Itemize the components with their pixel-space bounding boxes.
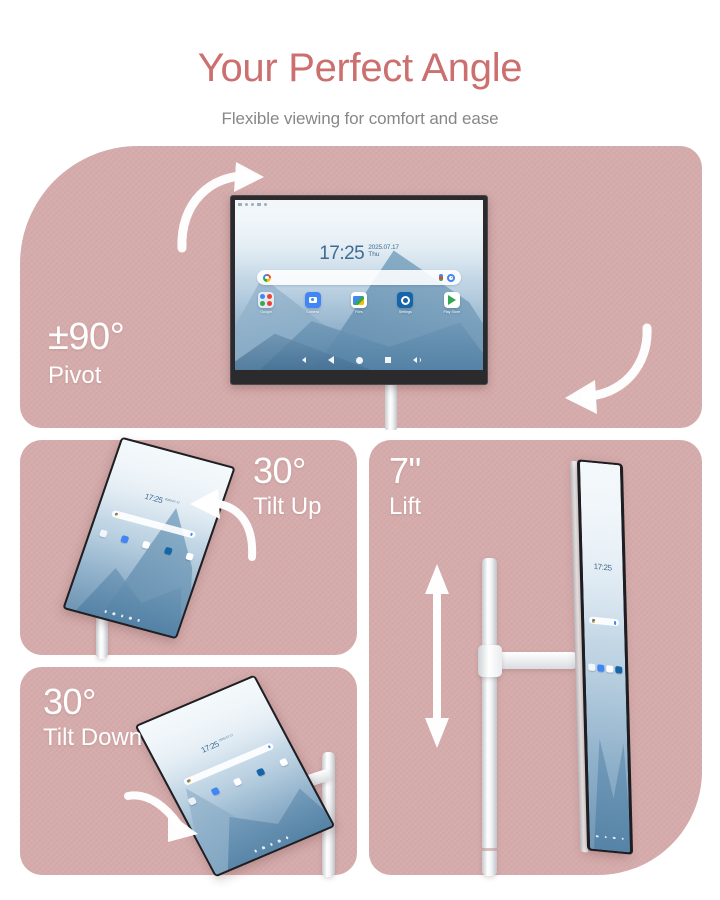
camera-icon	[305, 292, 321, 308]
volume-down-icon[interactable]	[302, 357, 306, 363]
caption-pivot-value: ±90°	[48, 318, 124, 358]
app-icon-camera[interactable]: Camera	[298, 292, 328, 314]
stand-arm	[495, 652, 580, 669]
app-label: Camera	[298, 311, 328, 315]
microphone-icon	[614, 621, 616, 625]
google-folder-icon	[258, 292, 274, 308]
caption-tilt-down: 30° Tilt Down	[43, 683, 142, 752]
app-icon-files[interactable]: Files	[344, 292, 374, 314]
stand-pole	[385, 382, 397, 430]
page-title: Your Perfect Angle	[0, 0, 720, 88]
files-icon	[606, 665, 613, 673]
curved-arrow-up-right-icon	[170, 162, 280, 252]
caption-tilt-up-value: 30°	[253, 452, 321, 489]
curved-arrow-up-left-icon	[180, 483, 260, 563]
clock-time: 17:25	[319, 244, 364, 263]
caption-pivot-label: Pivot	[48, 363, 124, 389]
recents-icon[interactable]	[385, 357, 391, 363]
curved-arrow-down-right-icon	[555, 322, 655, 422]
caption-tilt-up-label: Tilt Up	[253, 494, 321, 520]
recents-icon	[129, 617, 132, 620]
clock-time: 17:25	[594, 563, 612, 573]
back-icon[interactable]	[328, 356, 334, 364]
caption-tilt-down-label: Tilt Down	[43, 725, 142, 751]
app-icon-google[interactable]: Google	[251, 292, 281, 314]
device-screen: 17:25	[580, 462, 630, 853]
back-icon	[604, 836, 607, 839]
app-label: Settings	[390, 311, 420, 315]
app-label: Google	[251, 311, 281, 315]
app-label: Play Store	[437, 311, 467, 315]
play-store-icon	[444, 292, 460, 308]
microphone-icon	[268, 745, 271, 749]
files-icon	[351, 292, 367, 308]
home-icon[interactable]	[356, 357, 363, 364]
home-icon	[613, 837, 616, 840]
caption-pivot: ±90° Pivot	[48, 318, 124, 389]
volume-up-icon[interactable]	[413, 357, 417, 363]
clock-widget: 17:25	[594, 563, 612, 573]
double-headed-vertical-arrow-icon	[424, 560, 450, 752]
app-grid: Google Camera Files Settings	[243, 292, 475, 314]
volume-down-icon	[596, 835, 599, 838]
settings-gear-icon	[615, 666, 622, 674]
camera-icon	[121, 535, 130, 543]
page-subtitle: Flexible viewing for comfort and ease	[0, 88, 720, 129]
caption-tilt-up: 30° Tilt Up	[253, 452, 321, 521]
microphone-icon[interactable]	[439, 274, 443, 281]
caption-lift-label: Lift	[389, 494, 421, 520]
google-lens-icon[interactable]	[447, 274, 455, 282]
google-search-bar[interactable]	[257, 270, 461, 285]
navigation-bar	[235, 354, 483, 366]
google-g-icon	[186, 779, 191, 783]
google-g-icon	[114, 512, 119, 516]
wallpaper	[580, 462, 630, 853]
settings-gear-icon	[164, 546, 173, 554]
caption-lift-value: 7"	[389, 452, 421, 489]
files-icon	[142, 540, 151, 548]
header: Your Perfect Angle Flexible viewing for …	[0, 0, 720, 129]
app-label: Files	[344, 311, 374, 315]
volume-down-icon	[104, 610, 107, 613]
google-g-icon	[263, 274, 271, 282]
clock-date-stack: 2025.07.17 Thu	[368, 244, 399, 259]
promo-page: Your Perfect Angle Flexible viewing for …	[0, 0, 720, 900]
volume-up-icon	[137, 619, 140, 622]
clock-weekday: Thu	[368, 252, 399, 259]
curved-arrow-down-right-icon	[124, 790, 214, 852]
google-folder-icon	[588, 663, 595, 671]
back-icon	[112, 612, 115, 615]
google-g-icon	[592, 619, 596, 623]
caption-lift: 7" Lift	[389, 452, 421, 521]
stand-height-collar	[478, 645, 502, 677]
mountain-layer	[590, 694, 630, 852]
settings-gear-icon	[397, 292, 413, 308]
stand-pole	[482, 558, 497, 876]
app-icon-play-store[interactable]: Play Store	[437, 292, 467, 314]
wallpaper-haze	[580, 462, 625, 644]
recents-icon	[621, 838, 624, 841]
home-icon	[121, 614, 124, 617]
app-icon-settings[interactable]: Settings	[390, 292, 420, 314]
camera-icon	[597, 664, 604, 672]
google-folder-icon	[99, 529, 108, 537]
caption-tilt-down-value: 30°	[43, 683, 142, 720]
